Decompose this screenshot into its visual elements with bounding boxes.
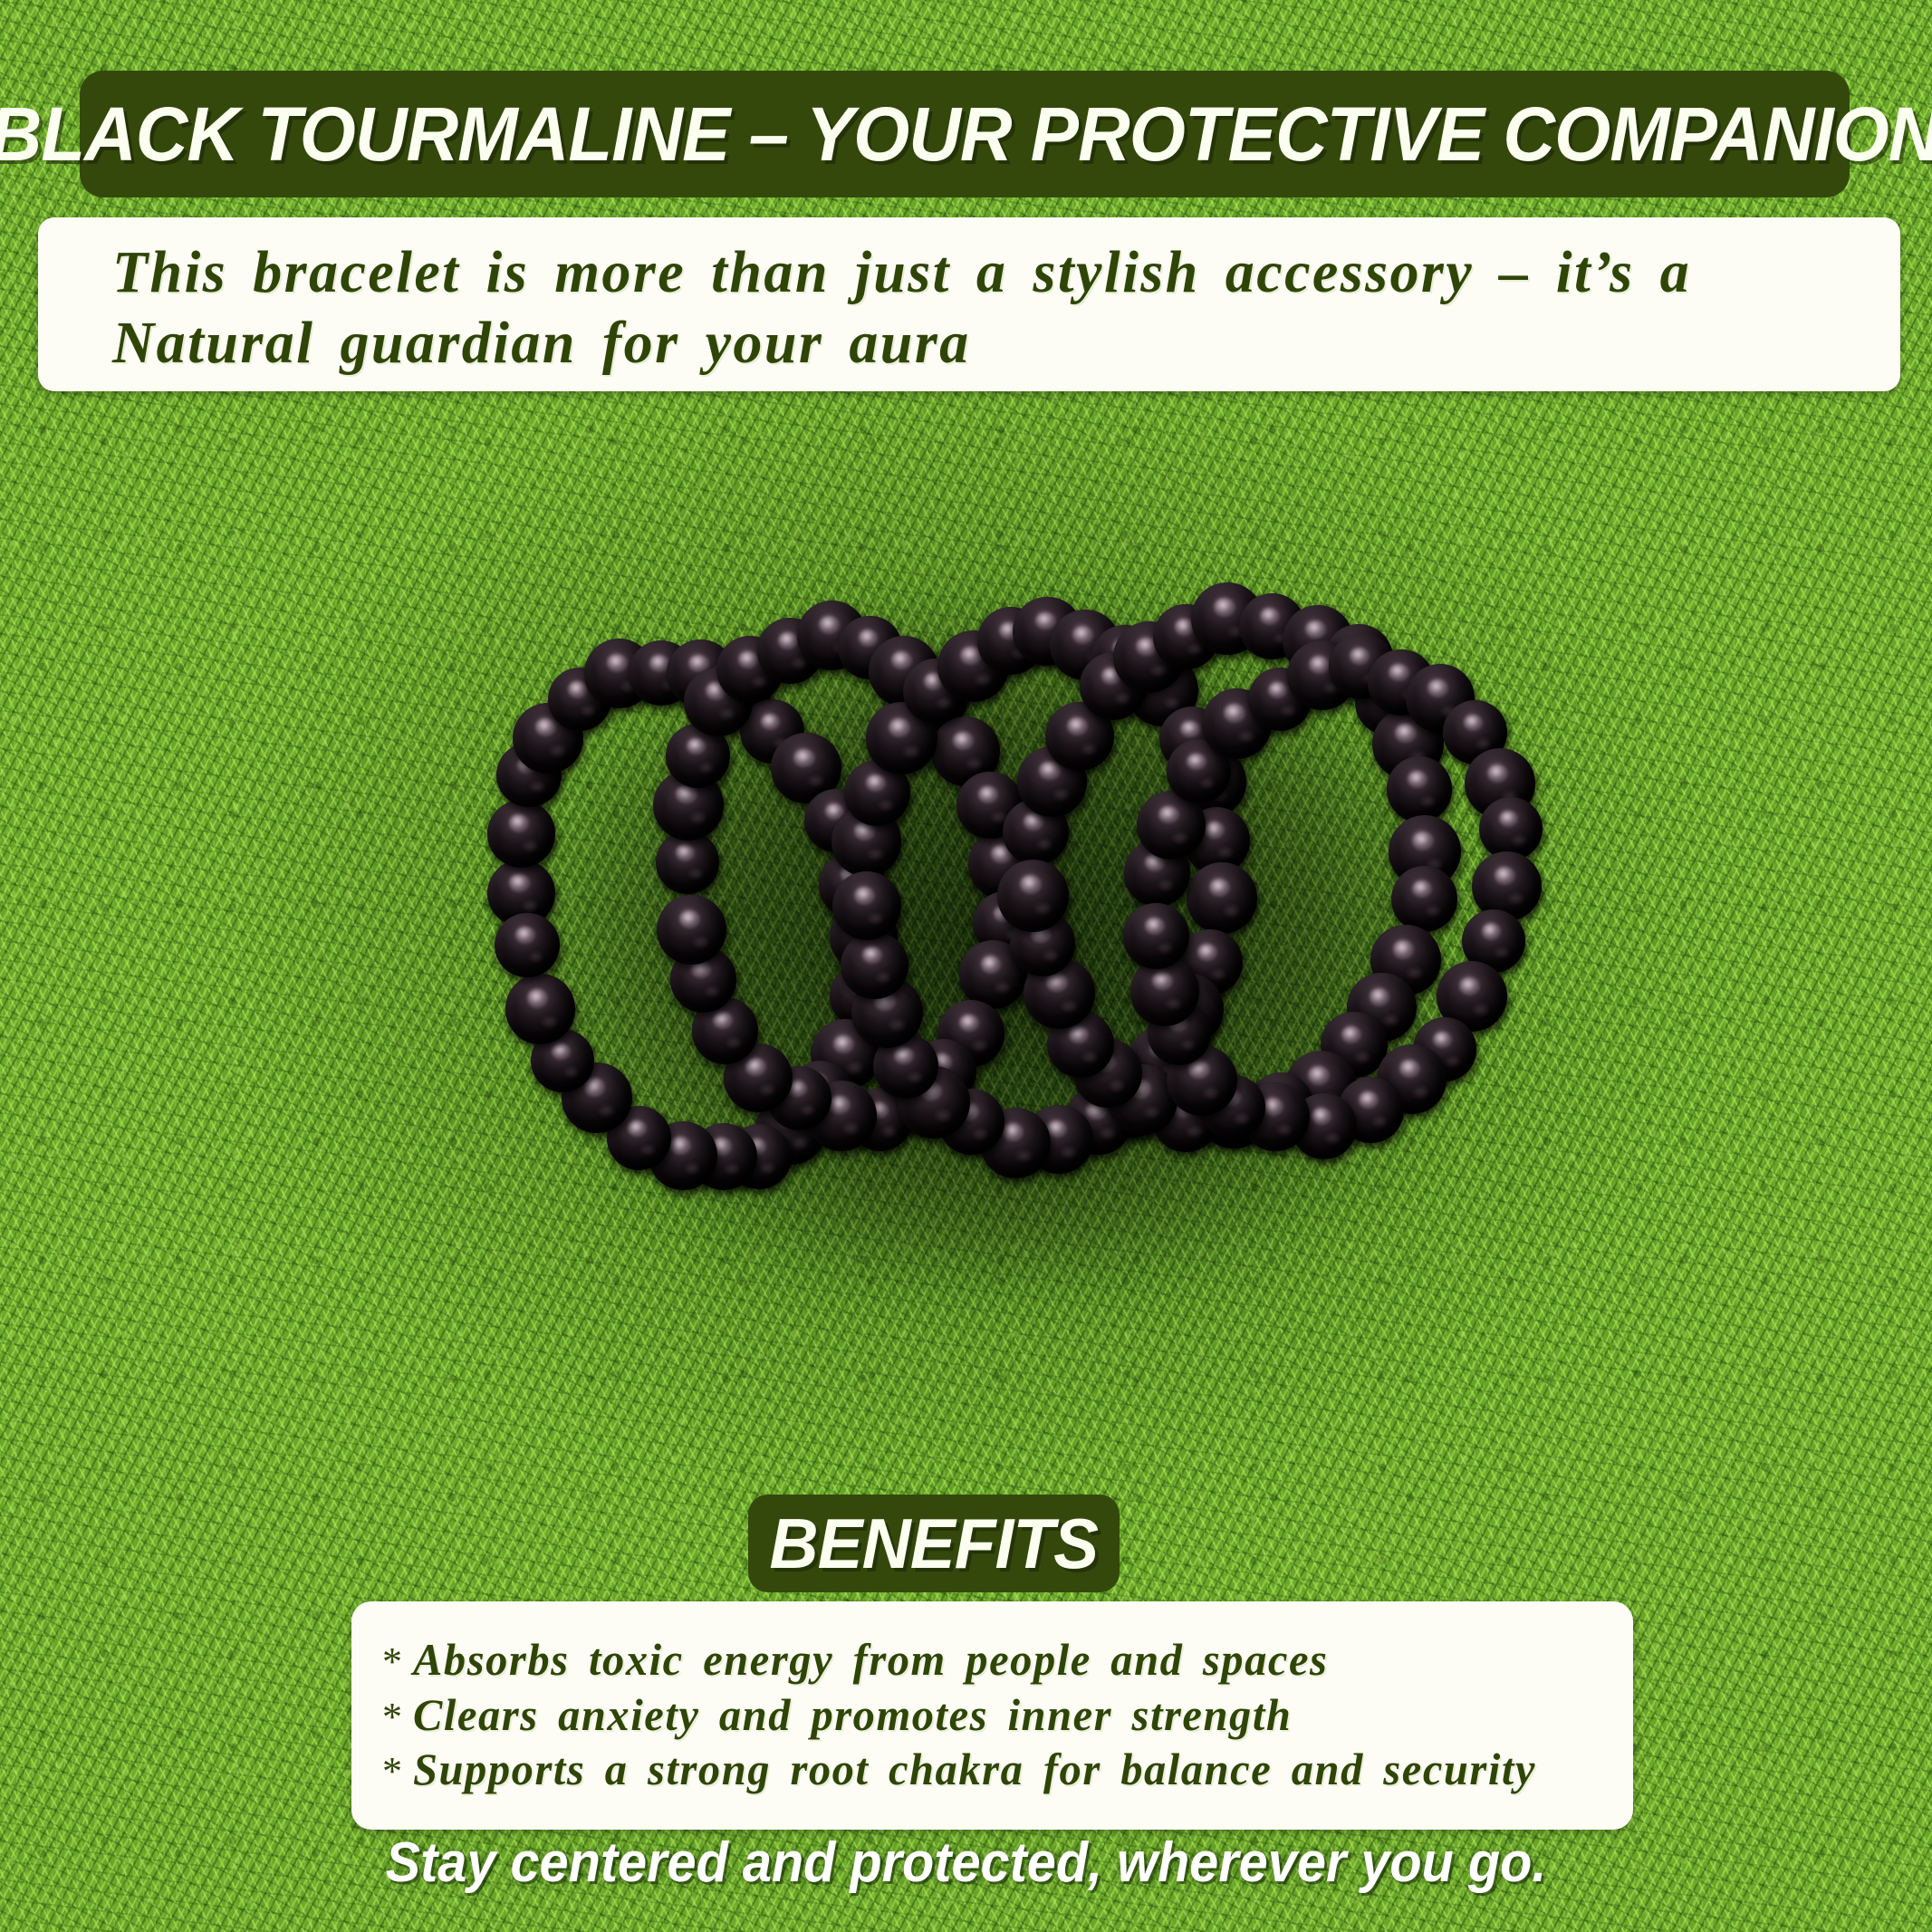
bracelet-bead (505, 974, 575, 1043)
bracelet-bead (495, 913, 560, 978)
bracelet-bead (487, 800, 555, 868)
benefit-text: Clears anxiety and promotes inner streng… (413, 1689, 1292, 1741)
benefit-item: * Supports a strong root chakra for bala… (371, 1744, 1597, 1795)
subtitle-text: This bracelet is more than just a stylis… (112, 237, 1797, 379)
poster-canvas: BLACK TOURMALINE – YOUR PROTECTIVE COMPA… (0, 0, 1932, 1932)
product-image (0, 471, 1932, 1422)
bracelet-bead (1387, 756, 1452, 822)
benefit-item: * Absorbs toxic energy from people and s… (371, 1634, 1597, 1686)
benefit-text: Absorbs toxic energy from people and spa… (413, 1634, 1328, 1686)
bracelet-bead (1187, 862, 1257, 933)
subtitle-line-1: This bracelet is more than just a stylis… (112, 239, 1691, 305)
benefit-item: * Clears anxiety and promotes inner stre… (371, 1689, 1597, 1741)
footer-tagline: Stay centered and protected, wherever yo… (68, 1835, 1865, 1891)
bracelet-bead (841, 932, 908, 999)
asterisk-bullet-icon: * (371, 1634, 413, 1685)
subtitle-line-2: Natural guardian for your aura (112, 310, 971, 376)
benefit-text: Supports a strong root chakra for balanc… (413, 1744, 1536, 1795)
bracelet-bead (657, 895, 726, 965)
benefits-card: * Absorbs toxic energy from people and s… (351, 1601, 1633, 1830)
benefits-heading: BENEFITS (770, 1508, 1099, 1579)
title-banner: BLACK TOURMALINE – YOUR PROTECTIVE COMPA… (80, 71, 1850, 197)
bracelet-cluster (417, 489, 1558, 1404)
benefits-heading-chip: BENEFITS (748, 1495, 1120, 1592)
bracelet-bead (997, 860, 1070, 932)
bracelet-bead (1123, 903, 1189, 969)
subtitle-card: This bracelet is more than just a stylis… (38, 217, 1900, 391)
asterisk-bullet-icon: * (371, 1689, 413, 1740)
asterisk-bullet-icon: * (371, 1744, 413, 1794)
bracelet-bead (1391, 866, 1457, 932)
page-title: BLACK TOURMALINE – YOUR PROTECTIVE COMPA… (0, 96, 1932, 172)
bracelet-bead (832, 871, 901, 940)
